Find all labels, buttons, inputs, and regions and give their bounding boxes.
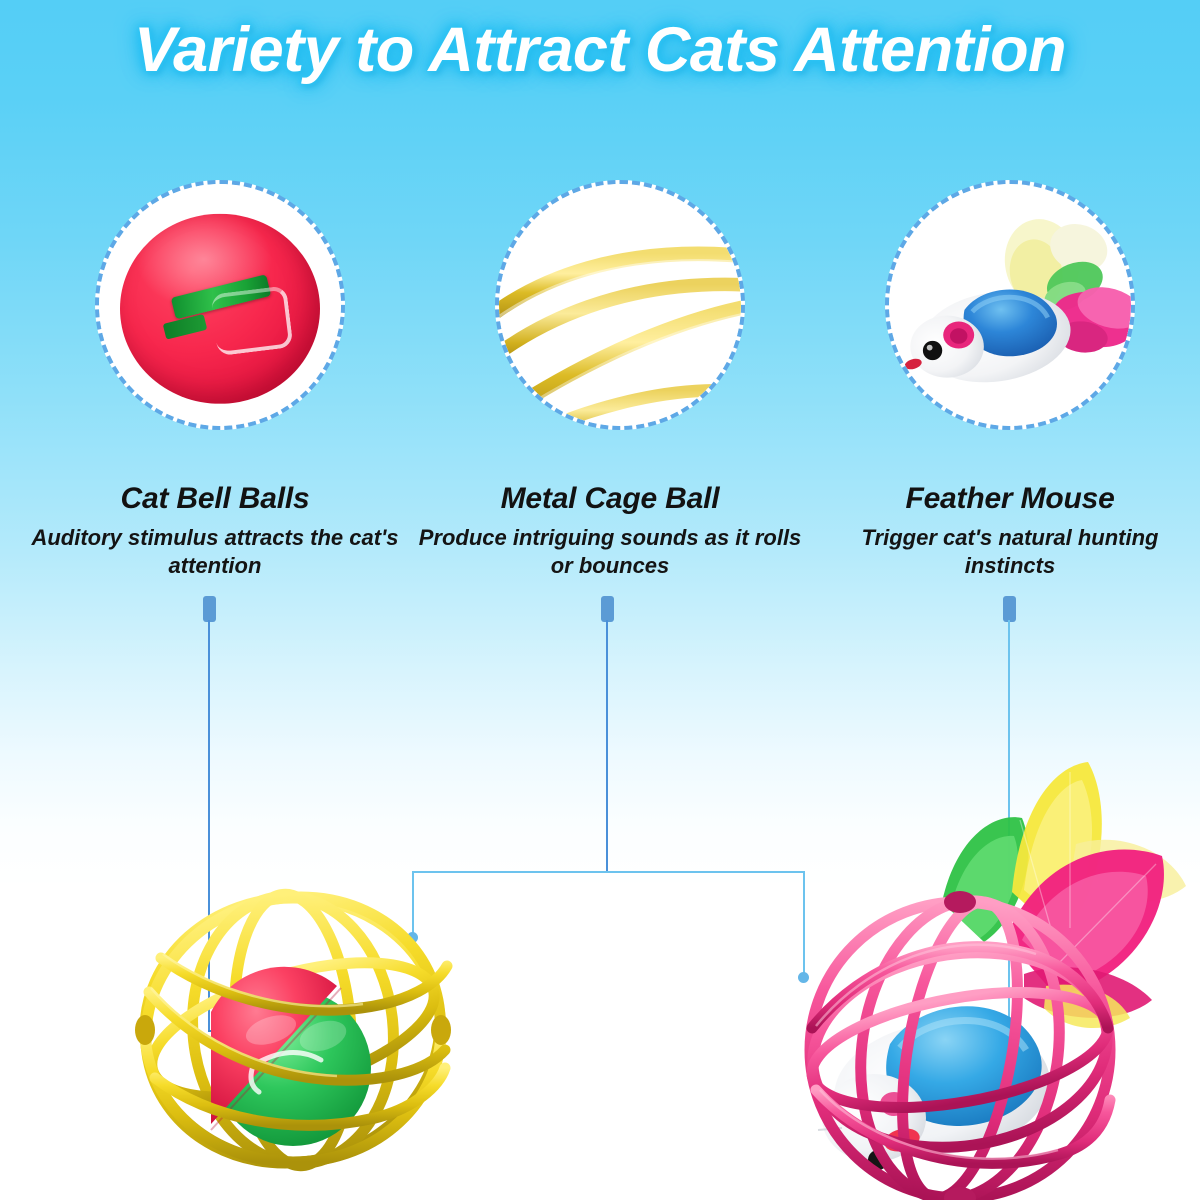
feather-plume <box>942 762 1186 1028</box>
red-bell-ball-closeup-icon <box>120 214 320 404</box>
feature-description-cat-bell-balls: Auditory stimulus attracts the cat's att… <box>20 524 410 579</box>
feature-circle-3-image <box>889 184 1131 426</box>
feature-circle-metal-cage-ball <box>495 180 745 430</box>
feature-description-metal-cage-ball: Produce intriguing sounds as it rolls or… <box>415 524 805 579</box>
connector-line-middle-vertical <box>606 620 608 873</box>
page-title: Variety to Attract Cats Attention <box>134 14 1066 86</box>
product-yellow-cage-ball <box>115 880 475 1180</box>
feature-title-cat-bell-balls: Cat Bell Balls <box>20 482 410 516</box>
connector-cap-left <box>203 596 216 622</box>
golden-wire-closeup-icon <box>499 184 741 426</box>
feature-description-feather-mouse: Trigger cat's natural hunting instincts <box>830 524 1190 579</box>
bell-gloss-highlight <box>211 285 294 356</box>
feature-circle-2-image <box>499 184 741 426</box>
connector-cap-right <box>1003 596 1016 622</box>
feature-caption-feather-mouse: Feather Mouse Trigger cat's natural hunt… <box>830 482 1190 579</box>
product-pink-cage-ball <box>770 760 1200 1200</box>
connector-branch-horizontal <box>412 871 804 873</box>
infographic-canvas: Variety to Attract Cats Attention <box>0 0 1200 1200</box>
feature-circle-cat-bell-balls <box>95 180 345 430</box>
feature-circle-feather-mouse <box>885 180 1135 430</box>
feature-title-metal-cage-ball: Metal Cage Ball <box>415 482 805 516</box>
page-title-container: Variety to Attract Cats Attention <box>0 14 1200 86</box>
feature-caption-cat-bell-balls: Cat Bell Balls Auditory stimulus attract… <box>20 482 410 579</box>
bell-green-stripe-lower <box>163 313 208 339</box>
feature-caption-metal-cage-ball: Metal Cage Ball Produce intriguing sound… <box>415 482 805 579</box>
feature-circle-1-image <box>99 184 341 426</box>
feature-title-feather-mouse: Feather Mouse <box>830 482 1190 516</box>
feather-mouse-closeup-icon <box>889 184 1131 426</box>
connector-cap-middle <box>601 596 614 622</box>
